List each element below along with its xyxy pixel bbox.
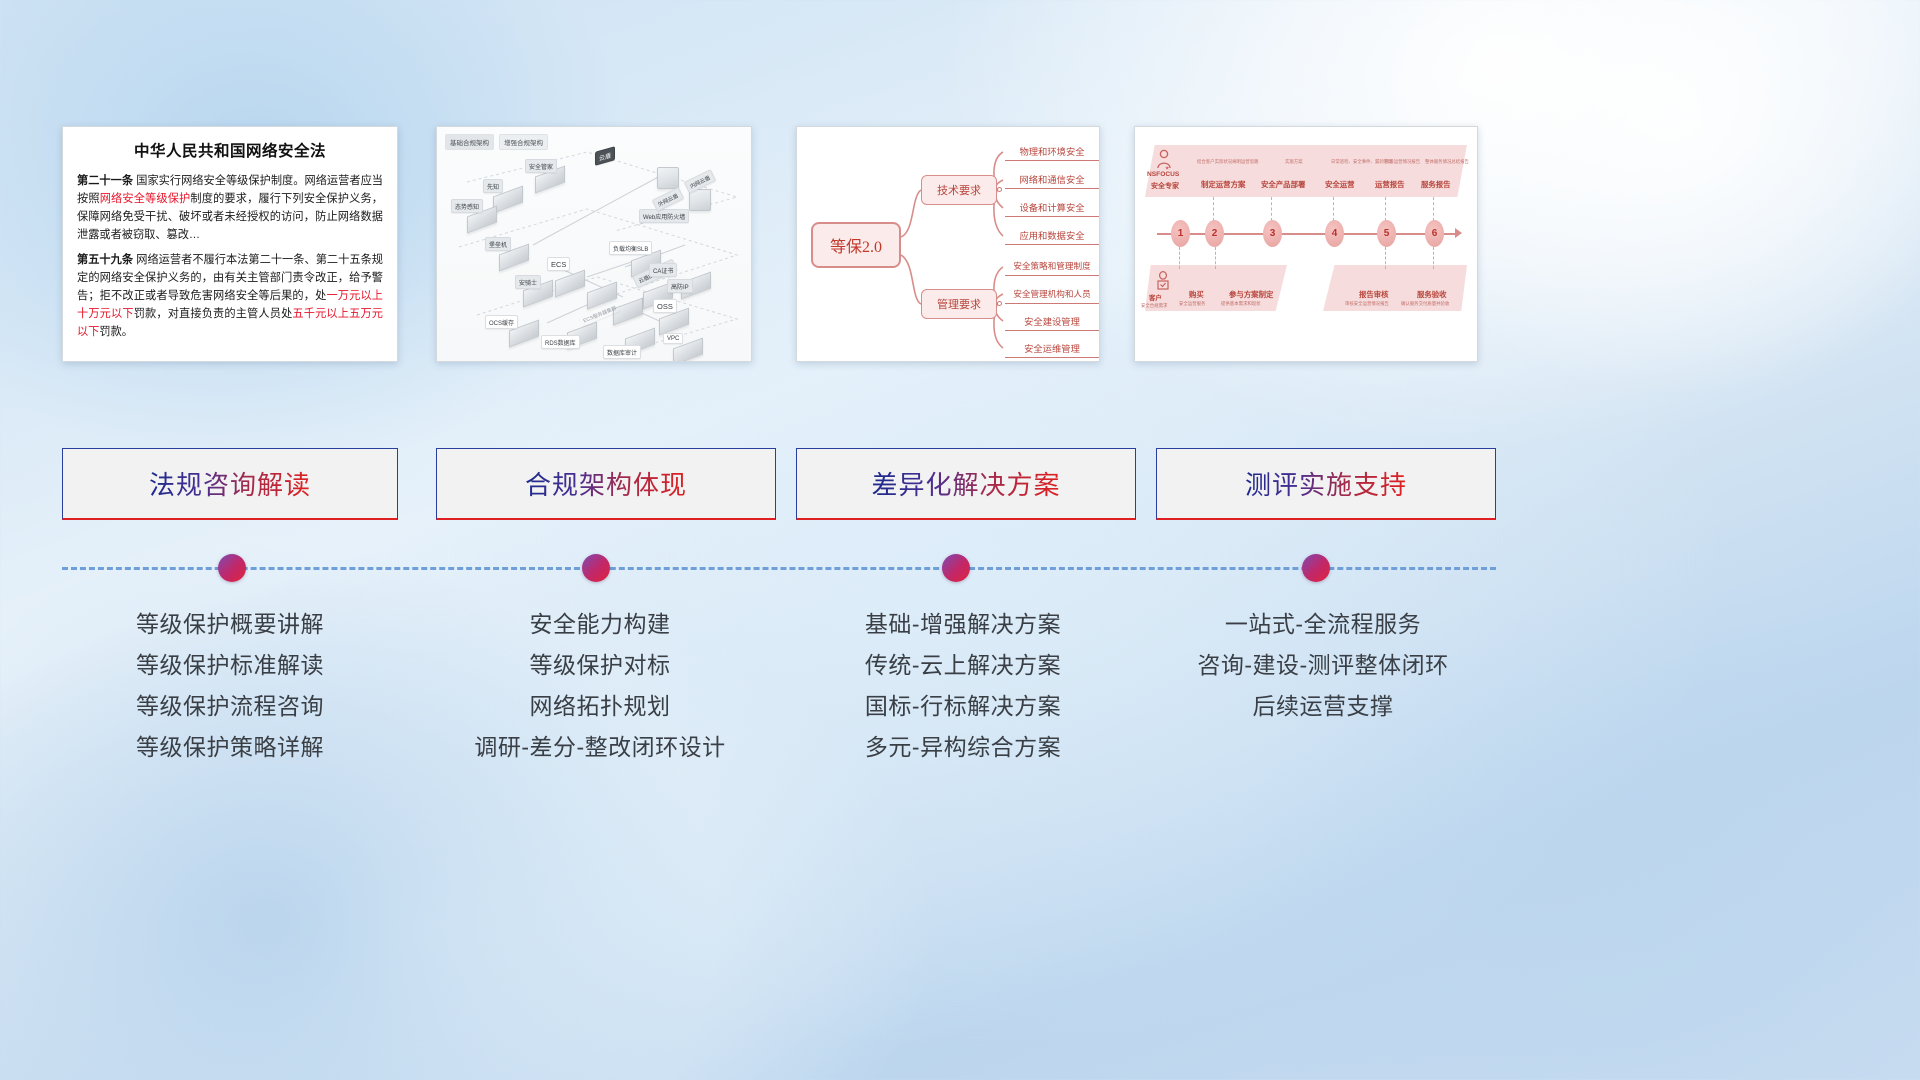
section-header-label: 合规架构体现 xyxy=(525,465,687,502)
node-ca: CA证书 xyxy=(649,263,677,277)
node-slb: 负载均衡SLB xyxy=(609,241,652,255)
process-step-number-5[interactable]: 5 xyxy=(1377,220,1396,247)
list-item: 基础-增强解决方案 xyxy=(790,604,1136,645)
detail-column-assessment-support: 一站式-全流程服务 咨询-建设-测评整体闭环 后续运营支撑 xyxy=(1150,604,1496,727)
process-step-3-sub: 实施方案 xyxy=(1285,159,1303,165)
law-article-21-highlight: 网络安全等级保护 xyxy=(100,193,191,205)
process-axis-arrow-icon xyxy=(1455,228,1462,238)
process-bottom-2-sub: 提供基本需求和现状 xyxy=(1221,301,1261,307)
process-bottom-1-label: 购买 xyxy=(1189,289,1204,300)
section-header-assessment-support[interactable]: 测评实施支持 xyxy=(1156,448,1496,520)
process-brand: NSFOCUS xyxy=(1147,171,1179,178)
list-item: 调研-差分-整改闭环设计 xyxy=(420,727,780,768)
node-taishiganzhi: 态势感知 xyxy=(451,199,483,213)
section-header-row: 法规咨询解读 合规架构体现 差异化解决方案 测评实施支持 xyxy=(0,448,1920,520)
card-compliance-architecture[interactable]: 基础合规架构 增强合规架构 xyxy=(436,126,752,362)
list-item: 等级保护流程咨询 xyxy=(62,686,398,727)
node-xianzhi: 先知 xyxy=(483,179,503,193)
mindmap-branch-technical: 技术要求 xyxy=(921,175,997,205)
timeline-dot-4[interactable] xyxy=(1302,554,1330,582)
card-dengbao-mindmap[interactable]: 等保2.0 技术要求 物理和环境安全 网络和通信安全 设备和计算安全 应用和数据… xyxy=(796,126,1100,362)
node-ecs: ECS xyxy=(547,257,570,271)
mindmap: 等保2.0 技术要求 物理和环境安全 网络和通信安全 设备和计算安全 应用和数据… xyxy=(797,127,1099,361)
process-step-number-4[interactable]: 4 xyxy=(1325,220,1344,247)
list-item: 咨询-建设-测评整体闭环 xyxy=(1150,645,1496,686)
connector-bottom-2 xyxy=(1215,247,1216,269)
node-ocs: OCS缓存 xyxy=(485,315,518,329)
mindmap-leaf-physical-security: 物理和环境安全 xyxy=(1005,141,1099,161)
list-item: 多元-异构综合方案 xyxy=(790,727,1136,768)
connector-step-3 xyxy=(1271,197,1272,221)
mindmap-branch-management: 管理要求 xyxy=(921,289,997,319)
list-item: 后续运营支撑 xyxy=(1150,686,1496,727)
list-item: 传统-云上解决方案 xyxy=(790,645,1136,686)
client-person-icon xyxy=(1155,271,1171,291)
process-banner-provider xyxy=(1145,145,1467,197)
section-header-label: 测评实施支持 xyxy=(1245,465,1407,502)
process-axis-line xyxy=(1157,233,1457,235)
list-item: 网络拓扑规划 xyxy=(420,686,780,727)
connector-bottom-1 xyxy=(1179,247,1180,269)
section-header-differentiated-solution[interactable]: 差异化解决方案 xyxy=(796,448,1136,520)
timeline-dashed-line xyxy=(62,567,1496,570)
process-step-6-sub: 整体服务情况总结报告 xyxy=(1425,159,1469,165)
node-waf: Web应用防火墙 xyxy=(639,209,689,223)
process-step-number-2[interactable]: 2 xyxy=(1205,220,1224,247)
section-header-label: 法规咨询解读 xyxy=(149,465,311,502)
process-bottom-3-sub: 审核安全运营情况报告 xyxy=(1345,301,1389,307)
mindmap-leaf-policy-system: 安全策略和管理制度 xyxy=(1005,256,1099,276)
timeline-dot-3[interactable] xyxy=(942,554,970,582)
process-bottom-1-sub: 安全运营服务 xyxy=(1179,301,1205,307)
connector-step-2 xyxy=(1213,197,1214,221)
node-anqishi: 安骑士 xyxy=(515,275,541,289)
mindmap-leaf-construction-mgmt: 安全建设管理 xyxy=(1005,311,1099,331)
connector-bottom-3 xyxy=(1385,247,1386,269)
connector-step-5 xyxy=(1385,197,1386,221)
node-baoleiji: 堡垒机 xyxy=(485,237,511,251)
mindmap-leaf-operations-mgmt: 安全运维管理 xyxy=(1005,338,1099,358)
timeline-dot-2[interactable] xyxy=(582,554,610,582)
process-step-number-1[interactable]: 1 xyxy=(1171,220,1190,247)
process-bottom-2-label: 参与方案制定 xyxy=(1229,289,1273,300)
law-article-21: 第二十一条 国家实行网络安全等级保护制度。网络运营者应当按照网络安全等级保护制度… xyxy=(77,172,383,245)
mindmap-leaf-org-personnel: 安全管理机构和人员 xyxy=(1005,284,1099,304)
mindmap-leaf-application-security: 应用和数据安全 xyxy=(1005,225,1099,245)
list-item: 国标-行标解决方案 xyxy=(790,686,1136,727)
law-title: 中华人民共和国网络安全法 xyxy=(77,139,383,161)
list-item: 等级保护标准解读 xyxy=(62,645,398,686)
process-step-5-sub: 阶段运营情况报告 xyxy=(1385,159,1420,165)
node-gaofang-ip: 高防IP xyxy=(667,279,693,293)
process-step-number-3[interactable]: 3 xyxy=(1263,220,1282,247)
law-article-59-text-c: 罚款。 xyxy=(99,326,133,338)
process-step-3-label: 安全产品部署 xyxy=(1261,179,1305,190)
list-item: 等级保护对标 xyxy=(420,645,780,686)
detail-column-compliance-architecture: 安全能力构建 等级保护对标 网络拓扑规划 调研-差分-整改闭环设计 xyxy=(420,604,780,768)
mindmap-collapse-dot-management[interactable] xyxy=(997,301,1002,306)
thumbnail-card-row: 中华人民共和国网络安全法 第二十一条 国家实行网络安全等级保护制度。网络运营者应… xyxy=(0,126,1920,362)
card-cybersecurity-law[interactable]: 中华人民共和国网络安全法 第二十一条 国家实行网络安全等级保护制度。网络运营者应… xyxy=(62,126,398,362)
list-item: 等级保护策略详解 xyxy=(62,727,398,768)
process-step-4-label: 安全运营 xyxy=(1325,179,1355,190)
list-item: 安全能力构建 xyxy=(420,604,780,645)
process-bottom-4-label: 服务验收 xyxy=(1417,289,1447,300)
mindmap-leaf-network-security: 网络和通信安全 xyxy=(1005,169,1099,189)
process-step-4-sub: 日常巡检、安全事件、漏洞管理 xyxy=(1331,159,1392,165)
law-article-21-label: 第二十一条 xyxy=(77,175,133,187)
law-document: 中华人民共和国网络安全法 第二十一条 国家实行网络安全等级保护制度。网络运营者应… xyxy=(63,127,397,355)
architecture-diagram: 基础合规架构 增强合规架构 xyxy=(437,127,751,361)
node-oss: OSS xyxy=(653,299,677,313)
mindmap-collapse-dot-technical[interactable] xyxy=(997,187,1002,192)
section-header-regulation-consulting[interactable]: 法规咨询解读 xyxy=(62,448,398,520)
process-step-2-label: 制定运营方案 xyxy=(1201,179,1245,190)
process-step-2-sub: 结合客户实际状况阐明运营思路 xyxy=(1197,159,1258,165)
list-item: 一站式-全流程服务 xyxy=(1150,604,1496,645)
detail-column-regulation-consulting: 等级保护概要讲解 等级保护标准解读 等级保护流程咨询 等级保护策略详解 xyxy=(62,604,398,768)
node-database-audit: 数据库审计 xyxy=(603,345,641,359)
process-step-6-label: 服务报告 xyxy=(1421,179,1451,190)
process-client-label: 客户 xyxy=(1149,293,1162,302)
process-bottom-3-label: 报告审核 xyxy=(1359,289,1389,300)
law-article-59-text-b: 罚款，对直接负责的主管人员处 xyxy=(134,308,293,320)
law-article-59: 第五十九条 网络运营者不履行本法第二十一条、第二十五条规定的网络安全保护义务的，… xyxy=(77,251,383,342)
node-anquanguanjia: 安全管家 xyxy=(525,159,557,173)
mindmap-root-node: 等保2.0 xyxy=(811,222,901,268)
node-vpc: VPC xyxy=(663,333,683,344)
expert-person-icon xyxy=(1155,149,1173,171)
list-item: 等级保护概要讲解 xyxy=(62,604,398,645)
process-step-number-6[interactable]: 6 xyxy=(1425,220,1444,247)
detail-column-differentiated-solution: 基础-增强解决方案 传统-云上解决方案 国标-行标解决方案 多元-异构综合方案 xyxy=(790,604,1136,768)
timeline-dot-1[interactable] xyxy=(218,554,246,582)
mindmap-leaf-device-security: 设备和计算安全 xyxy=(1005,197,1099,217)
connector-step-6 xyxy=(1433,197,1434,221)
shield-icon-waiwang xyxy=(657,167,679,189)
process-step-5-label: 运营报告 xyxy=(1375,179,1405,190)
connector-step-4 xyxy=(1333,197,1334,221)
timeline-connector xyxy=(62,566,1496,570)
process-client-sub: 安全合规需求 xyxy=(1141,303,1167,309)
card-service-process[interactable]: NSFOCUS 安全专家 结合客户实际状况阐明运营思路 实施方案 日常巡检、安全… xyxy=(1134,126,1478,362)
section-header-compliance-architecture[interactable]: 合规架构体现 xyxy=(436,448,776,520)
node-rds: RDS数据库 xyxy=(541,335,580,349)
law-article-59-label: 第五十九条 xyxy=(77,254,133,266)
process-brand-sub: 安全专家 xyxy=(1151,181,1179,191)
process-timeline: NSFOCUS 安全专家 结合客户实际状况阐明运营思路 实施方案 日常巡检、安全… xyxy=(1135,127,1477,361)
section-header-label: 差异化解决方案 xyxy=(871,465,1060,502)
connector-bottom-4 xyxy=(1433,247,1434,269)
process-bottom-4-sub: 确认服务交付质量并验收 xyxy=(1401,301,1449,307)
